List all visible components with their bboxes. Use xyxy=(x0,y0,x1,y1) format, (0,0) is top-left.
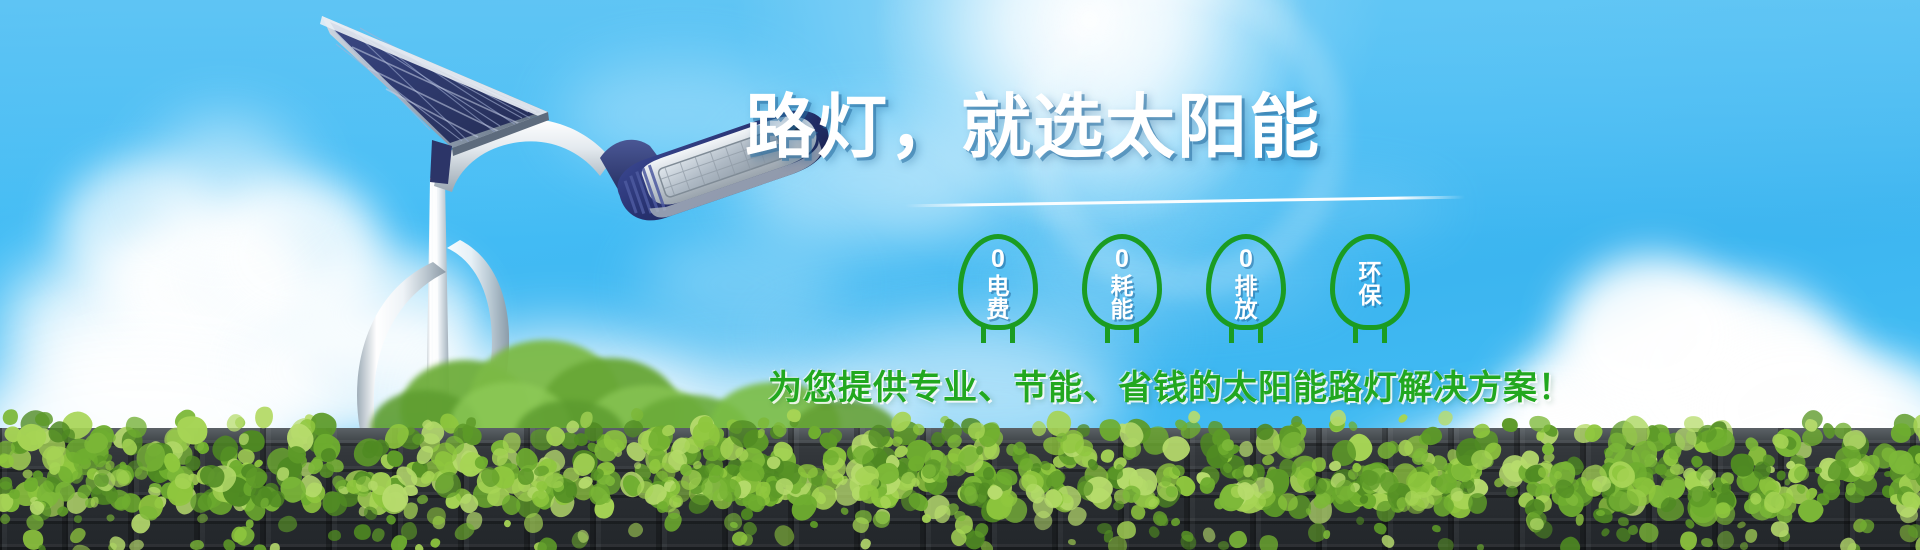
lightbulb-base-icon xyxy=(1105,327,1139,343)
badge-zero-value: 0 xyxy=(1115,247,1129,275)
ivy-leaf xyxy=(1396,413,1408,425)
lamp-arm xyxy=(434,119,612,192)
ivy-leaf xyxy=(1,408,19,427)
ivy-leaf xyxy=(302,412,318,429)
badge-zero-electricity-cost: 0 电 费 xyxy=(950,232,1046,336)
badge-label-line1: 排 xyxy=(1235,275,1258,298)
badge-zero-value: 0 xyxy=(1239,247,1253,275)
badge-label-line1: 电 xyxy=(987,275,1010,298)
badge-text: 0 电 费 xyxy=(987,247,1010,322)
ivy-leaf xyxy=(1435,408,1456,429)
badge-zero-emissions: 0 排 放 xyxy=(1198,232,1294,336)
badge-text: 环 保 xyxy=(1359,261,1382,308)
solar-street-light-banner: 路灯，就选太阳能 0 电 费 0 耗 能 0 排 xyxy=(0,0,1920,550)
solar-panel xyxy=(320,16,549,184)
badge-zero-energy-use: 0 耗 能 xyxy=(1074,232,1170,336)
tagline: 为您提供专业、节能、省钱的太阳能路灯解决方案！ xyxy=(768,360,1573,409)
ivy-leaf xyxy=(34,411,52,426)
ivy-leaf xyxy=(788,416,800,428)
badge-text: 0 排 放 xyxy=(1235,247,1258,322)
badge-label-line1: 耗 xyxy=(1111,275,1134,298)
badge-label-line1: 环 xyxy=(1359,261,1382,284)
badge-label-line2: 能 xyxy=(1111,298,1134,321)
badge-zero-value: 0 xyxy=(991,247,1005,275)
tiled-wall xyxy=(0,428,1920,550)
badge-label-line2: 放 xyxy=(1235,298,1258,321)
ivy-leaf xyxy=(1290,414,1305,429)
badge-eco-friendly: 环 保 xyxy=(1322,232,1418,336)
lamp-bracket xyxy=(600,140,668,200)
ivy-leaf xyxy=(578,410,595,430)
feature-badge-group: 0 电 费 0 耗 能 0 排 放 xyxy=(950,232,1418,336)
ivy-leaf xyxy=(1330,410,1347,427)
badge-text: 0 耗 能 xyxy=(1111,247,1134,322)
lightbulb-base-icon xyxy=(981,327,1015,343)
badge-label-line2: 费 xyxy=(987,298,1010,321)
wall-tile-texture xyxy=(0,428,1920,550)
ivy-leaf xyxy=(1185,409,1202,426)
lightbulb-base-icon xyxy=(1229,327,1263,343)
badge-label-line2: 保 xyxy=(1359,284,1382,307)
ivy-leaf xyxy=(939,415,950,425)
lightbulb-base-icon xyxy=(1353,327,1387,343)
ivy-leaf xyxy=(253,404,277,430)
page-title: 路灯，就选太阳能 xyxy=(745,92,1321,162)
ivy-leaf xyxy=(629,406,646,424)
